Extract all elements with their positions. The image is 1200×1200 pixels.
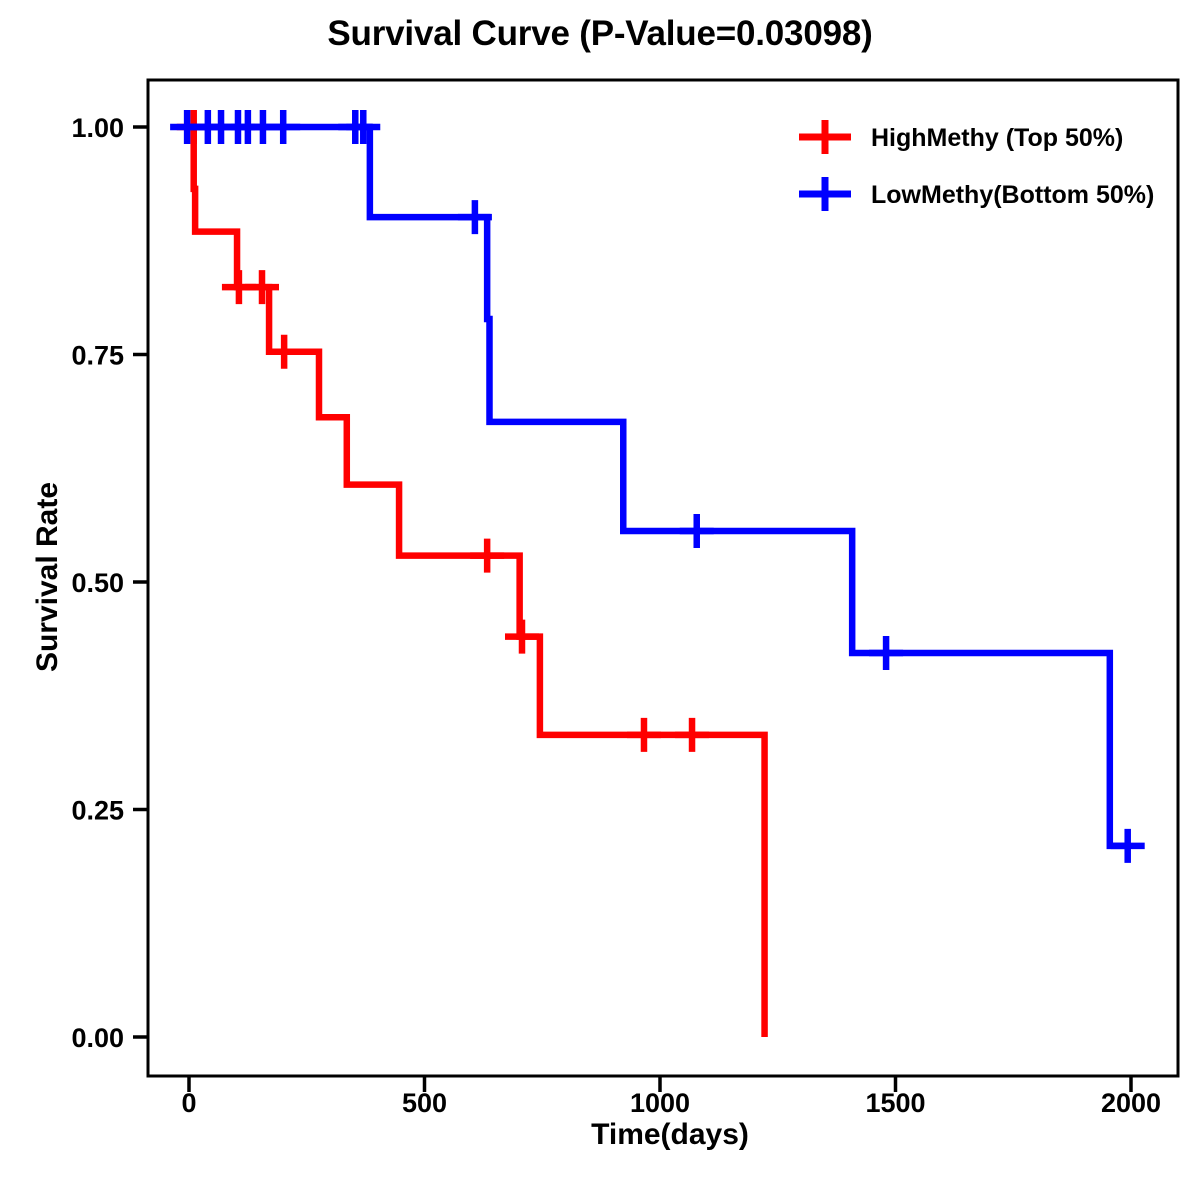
- y-axis-ticks: 0.000.250.500.751.00: [71, 113, 148, 1053]
- y-tick-label: 1.00: [71, 113, 124, 143]
- series-layer: [170, 110, 1145, 1037]
- x-tick-label: 1000: [630, 1088, 690, 1118]
- y-tick-label: 0.50: [71, 568, 124, 598]
- x-tick-label: 0: [181, 1088, 196, 1118]
- y-tick-label: 0.00: [71, 1023, 124, 1053]
- x-tick-label: 1500: [865, 1088, 925, 1118]
- x-axis-ticks: 0500100015002000: [181, 1076, 1161, 1118]
- chart-legend: HighMethy (Top 50%)LowMethy(Bottom 50%): [799, 120, 1154, 211]
- series-high-methy: [177, 110, 765, 1037]
- legend-label: HighMethy (Top 50%): [871, 124, 1123, 152]
- series-low-methy: [170, 110, 1145, 863]
- x-tick-label: 500: [402, 1088, 447, 1118]
- step-line: [189, 127, 765, 1037]
- y-tick-label: 0.25: [71, 796, 124, 826]
- x-tick-label: 2000: [1101, 1088, 1161, 1118]
- y-tick-label: 0.75: [71, 341, 124, 371]
- legend-label: LowMethy(Bottom 50%): [871, 181, 1154, 209]
- legend-item-high-methy[interactable]: HighMethy (Top 50%): [799, 120, 1123, 154]
- survival-curve-figure: Survival Curve (P-Value=0.03098) Surviva…: [0, 0, 1200, 1200]
- plot-area: 0.000.250.500.751.00 0500100015002000 Hi…: [0, 0, 1200, 1200]
- plot-frame: [148, 80, 1178, 1076]
- legend-item-low-methy[interactable]: LowMethy(Bottom 50%): [799, 177, 1154, 211]
